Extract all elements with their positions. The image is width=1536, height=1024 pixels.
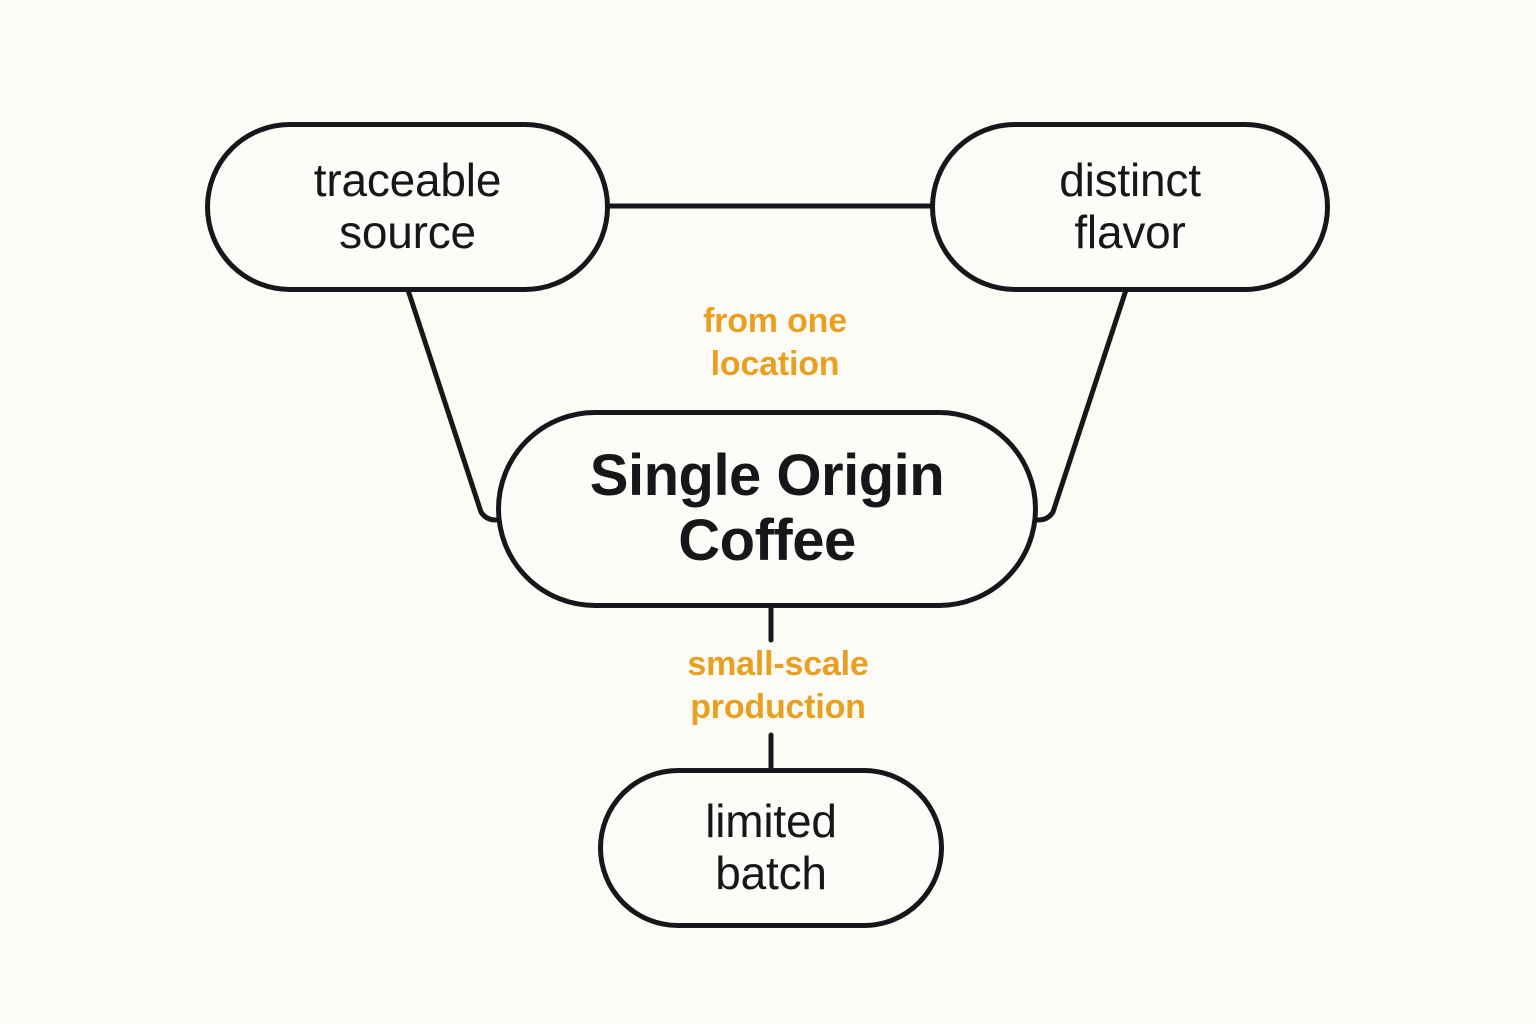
- diagram-canvas: traceable source distinct flavor Single …: [0, 0, 1536, 1024]
- node-distinct-flavor[interactable]: distinct flavor: [930, 122, 1330, 292]
- node-label: limited batch: [705, 796, 837, 899]
- edge-traceable-to-central: [408, 290, 496, 520]
- edge-label-from-one-location: from one location: [625, 300, 925, 385]
- node-traceable-source[interactable]: traceable source: [205, 122, 610, 292]
- edge-label-small-scale-production: small-scale production: [623, 643, 933, 728]
- node-label: distinct flavor: [1059, 155, 1201, 258]
- node-single-origin-coffee[interactable]: Single Origin Coffee: [496, 410, 1038, 608]
- node-label: traceable source: [314, 155, 501, 258]
- node-limited-batch[interactable]: limited batch: [598, 768, 944, 928]
- node-label: Single Origin Coffee: [590, 444, 944, 574]
- edge-distinct-to-central: [1038, 290, 1126, 520]
